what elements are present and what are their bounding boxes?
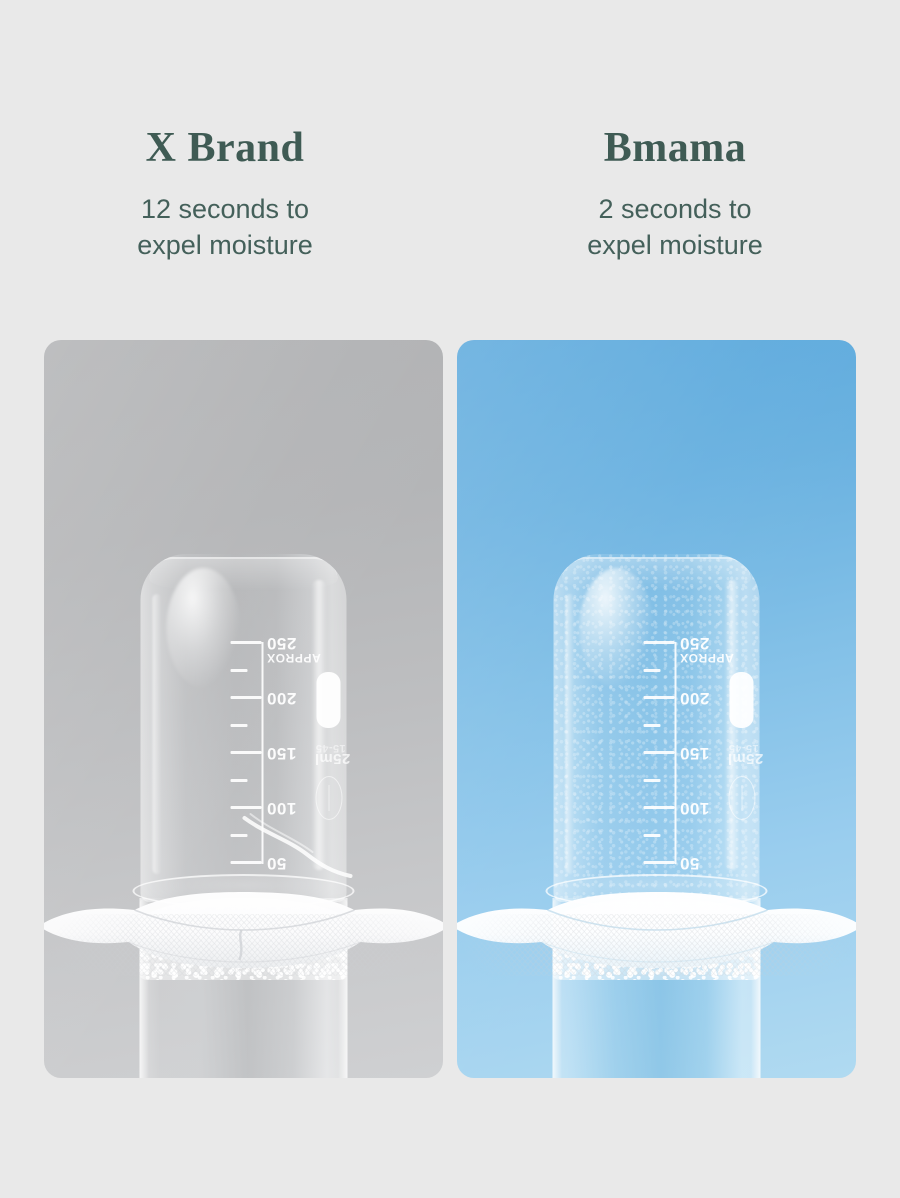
fabric-weave-texture-left [44, 914, 443, 976]
inverted-bottle-left [141, 554, 347, 902]
heading-column-bmama: Bmama 2 seconds to expel moisture [450, 122, 900, 263]
bottle-assembly-right: 50 100 150 200 250 APPROX [457, 340, 856, 1078]
panel-bmama-photo: 50 100 150 200 250 APPROX [457, 340, 856, 1078]
fabric-weave-texture-right [457, 914, 856, 976]
brand-subtitle-left-line1: 12 seconds to [0, 191, 450, 227]
comparison-page: X Brand 12 seconds to expel moisture Bma… [0, 0, 900, 1198]
brand-subtitle-right-line2: expel moisture [450, 227, 900, 263]
bottle-left-highlight-left [153, 594, 162, 874]
inverted-bottle-right [554, 554, 760, 902]
brand-subtitle-left-line2: expel moisture [0, 227, 450, 263]
brand-subtitle-right-line1: 2 seconds to [450, 191, 900, 227]
brand-subtitle-right: 2 seconds to expel moisture [450, 191, 900, 263]
brand-title-left: X Brand [0, 122, 450, 174]
bottle-dome-highlight-left [167, 568, 241, 688]
comparison-panels: 50 100 150 200 250 APPROX [44, 340, 856, 1078]
bottle-right-highlight-left [312, 580, 327, 870]
bottle-assembly-left: 50 100 150 200 250 APPROX [44, 340, 443, 1078]
fabric-collar-left [44, 880, 443, 982]
heading-column-x-brand: X Brand 12 seconds to expel moisture [0, 122, 450, 263]
brand-title-right: Bmama [450, 122, 900, 174]
bottle-dome-highlight-right [580, 568, 654, 688]
headings-row: X Brand 12 seconds to expel moisture Bma… [0, 122, 900, 263]
bottle-right-highlight-right [725, 580, 740, 870]
brand-subtitle-left: 12 seconds to expel moisture [0, 191, 450, 263]
bottle-left-highlight-right [566, 594, 575, 874]
panel-x-brand-photo: 50 100 150 200 250 APPROX [44, 340, 443, 1078]
fabric-collar-right [457, 880, 856, 982]
